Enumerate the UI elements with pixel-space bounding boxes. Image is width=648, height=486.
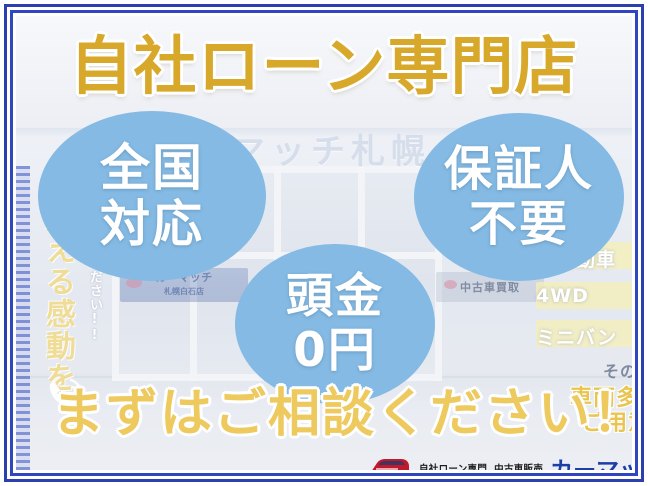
page-title: 自社ローン専門店 xyxy=(16,32,632,102)
badge-nationwide: 全国 対応 xyxy=(38,111,266,281)
logo-tagline-left: 自社ローン専門 xyxy=(419,461,487,470)
category-label-2: ミニバン xyxy=(536,323,632,350)
right-sign-text: 中古車買取 xyxy=(436,279,544,295)
badge-nationwide-line1: 全国 xyxy=(100,140,204,196)
logo-brand-name: カーマッチ xyxy=(550,451,632,470)
badge-guarantor-line1: 保証人 xyxy=(444,142,594,197)
banner-stage: マッチ札幌 カーマッチ 札幌白石店 中古車買取 軽自動車 4WD ミニバン その… xyxy=(16,16,632,470)
badge-guarantor-line2: 不要 xyxy=(469,197,569,252)
badge-downpayment-line2: 0円 xyxy=(293,324,377,378)
badge-downpayment-line1: 頭金 xyxy=(286,270,384,324)
badge-downpayment: 頭金 0円 xyxy=(235,244,435,404)
cta-text: まずはご相談ください！ xyxy=(52,384,612,444)
category-label-1: 4WD xyxy=(536,285,632,307)
category-label-3: その他 xyxy=(536,358,632,382)
badge-guarantor: 保証人 不要 xyxy=(414,113,624,281)
car-icon xyxy=(368,456,412,470)
badge-nationwide-line2: 対応 xyxy=(100,196,204,252)
logo-tagline-right: 中古車販売 xyxy=(494,461,543,470)
brand-logo: 自社ローン専門 中古車販売 カーマッチ xyxy=(368,453,632,470)
door-banner-sub: 札幌白石店 xyxy=(164,287,204,296)
advertisement-banner: マッチ札幌 カーマッチ 札幌白石店 中古車買取 軽自動車 4WD ミニバン その… xyxy=(0,0,648,486)
left-stripe-decoration xyxy=(16,166,30,470)
